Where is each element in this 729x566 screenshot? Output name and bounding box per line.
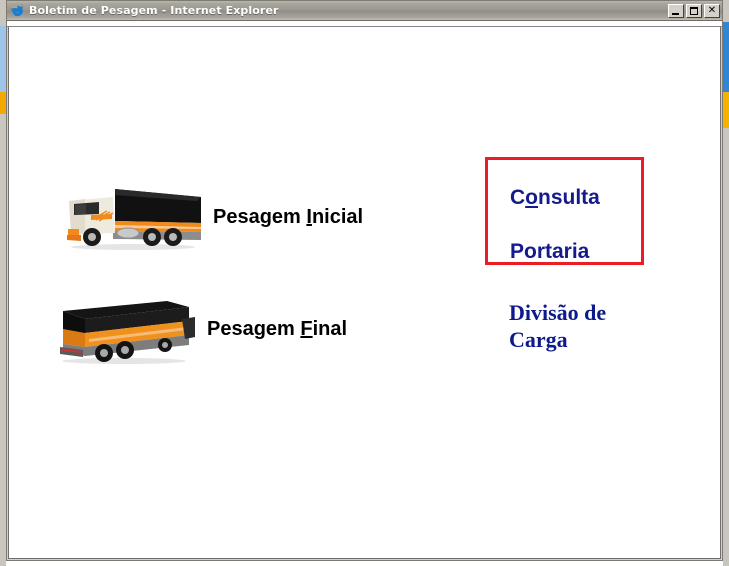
maximize-icon bbox=[690, 7, 698, 15]
label-text-before: Pesagem bbox=[213, 206, 306, 228]
link-text-line2: Portaria bbox=[510, 240, 589, 263]
link-text-after: nsulta bbox=[538, 186, 600, 209]
maximize-button[interactable] bbox=[686, 4, 702, 18]
label-text-before: Pesagem bbox=[207, 318, 300, 340]
menu-item-pesagem-inicial[interactable]: Pesagem Inicial bbox=[55, 177, 363, 257]
minimize-icon bbox=[672, 13, 679, 15]
minimize-button[interactable] bbox=[668, 4, 684, 18]
screen: Boletim de Pesagem - Internet Explorer ✕ bbox=[0, 0, 729, 566]
menu-item-pesagem-final-label: Pesagem Final bbox=[207, 318, 347, 341]
background-strip-right-orange bbox=[723, 92, 729, 128]
close-icon: ✕ bbox=[705, 5, 719, 17]
link-accesskey: o bbox=[525, 186, 538, 209]
label-accesskey: F bbox=[300, 318, 312, 340]
consulta-portaria-link[interactable]: Consulta Portaria bbox=[510, 157, 600, 265]
menu-item-pesagem-inicial-label: Pesagem Inicial bbox=[213, 206, 363, 229]
link-text-before: C bbox=[510, 186, 525, 209]
background-strip-right-gray bbox=[723, 128, 729, 566]
close-button[interactable]: ✕ bbox=[704, 4, 720, 18]
page-viewport: Pesagem Inicial bbox=[8, 27, 721, 559]
window-title: Boletim de Pesagem - Internet Explorer bbox=[29, 4, 666, 17]
trailer-rear-view-icon bbox=[49, 289, 199, 369]
browser-window: Boletim de Pesagem - Internet Explorer ✕ bbox=[6, 0, 723, 561]
title-bar[interactable]: Boletim de Pesagem - Internet Explorer ✕ bbox=[7, 1, 722, 21]
label-text-after: inal bbox=[313, 318, 347, 340]
truck-side-view-icon bbox=[55, 177, 205, 257]
background-strip-right-top bbox=[723, 0, 729, 22]
label-text-after: nicial bbox=[312, 206, 363, 228]
internet-explorer-icon bbox=[10, 3, 25, 18]
background-strip-right-blue bbox=[723, 22, 729, 92]
consulta-portaria-box[interactable]: Consulta Portaria bbox=[485, 157, 644, 265]
divisao-de-carga-link[interactable]: Divisão de Carga bbox=[509, 299, 606, 353]
menu-item-pesagem-final[interactable]: Pesagem Final bbox=[49, 289, 347, 369]
